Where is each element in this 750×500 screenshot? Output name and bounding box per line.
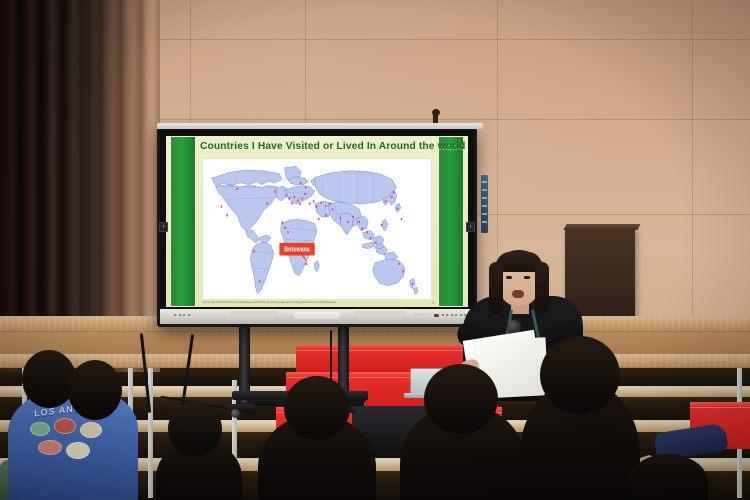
presenter-mouth <box>512 290 524 298</box>
world-map[interactable]: Botswana <box>202 158 432 300</box>
slide-page-number: 3 <box>432 301 434 305</box>
pen-tray-left[interactable] <box>230 311 278 315</box>
display-top-trim <box>157 123 483 129</box>
photo-scene: Countries I Have Visited or Lived In Aro… <box>0 0 750 500</box>
student-head <box>168 402 222 456</box>
slide-footer: source: https://www.shutterstock.com/ja/… <box>202 301 434 305</box>
presenter-hair-side-right <box>535 262 549 314</box>
student-head <box>68 360 122 420</box>
world-map-svg: Botswana <box>203 159 431 299</box>
slide-accent-band-left <box>170 136 196 307</box>
slide-title: Countries I Have Visited or Lived In Aro… <box>200 141 434 152</box>
chevron-right-icon[interactable]: › <box>159 222 168 232</box>
pen-tray-right[interactable] <box>354 311 406 315</box>
chevron-left-icon[interactable]: ‹ <box>466 222 475 232</box>
presenter-eye-left <box>506 276 512 279</box>
presentation-slide[interactable]: Countries I Have Visited or Lived In Aro… <box>166 136 468 307</box>
bench-leg <box>148 368 153 498</box>
interactive-whiteboard-display[interactable]: Countries I Have Visited or Lived In Aro… <box>157 127 477 327</box>
presenter-hair-side-left <box>489 262 503 314</box>
display-bottom-bezel <box>160 309 474 324</box>
display-screen[interactable]: Countries I Have Visited or Lived In Aro… <box>166 136 468 307</box>
svg-text:Botswana: Botswana <box>284 246 310 254</box>
shirt-patch <box>38 440 62 455</box>
presenter-eye-right <box>524 276 530 279</box>
shirt-patch <box>54 418 76 434</box>
student-head <box>424 364 498 434</box>
stand-caster <box>231 409 240 418</box>
display-indicator-lights <box>174 314 190 316</box>
brand-logo-plate <box>294 312 340 319</box>
student-head <box>284 376 350 440</box>
shirt-patch <box>80 422 102 438</box>
student-head <box>22 350 76 408</box>
shirt-patch <box>30 422 50 436</box>
display-side-control-strip[interactable] <box>481 175 488 233</box>
slide-source-text: source: https://www.shutterstock.com/ja/… <box>202 302 336 305</box>
shirt-patch <box>66 442 90 459</box>
student-head <box>540 336 620 414</box>
